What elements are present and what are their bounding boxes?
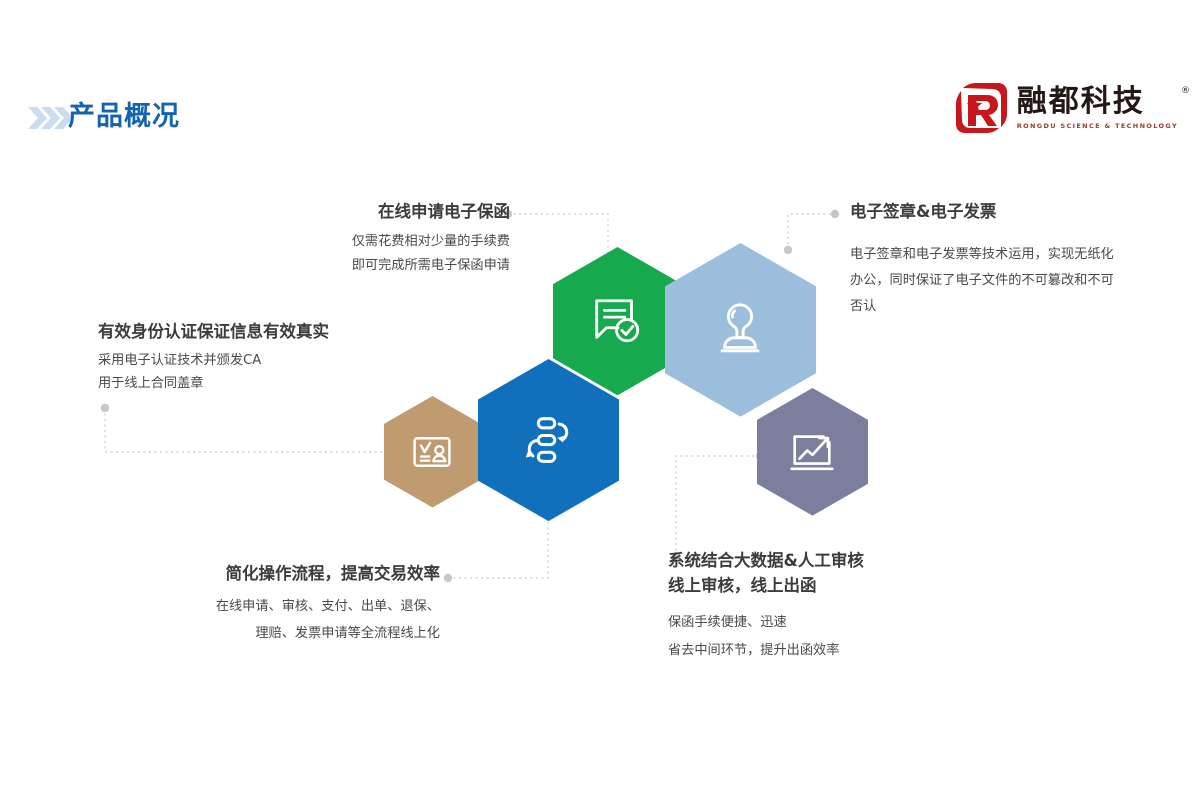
block-body-line: 省去中间环节，提升出函效率 [668, 637, 968, 665]
id-card-person-icon [410, 430, 454, 474]
logo-chinese-name: 融都科技 [1017, 85, 1178, 119]
registered-trademark-icon: ® [1181, 87, 1190, 96]
block-title: 简化操作流程，提高交易效率 [100, 562, 440, 585]
text-block-bigdata-audit: 系统结合大数据&人工审核 线上审核，线上出函 保函手续便捷、迅速 省去中间环节，… [668, 548, 968, 665]
rubber-stamp-icon [709, 299, 771, 361]
block-body: 在线申请、审核、支付、出单、退保、 理赔、发票申请等全流程线上化 [100, 593, 440, 647]
block-title: 电子签章&电子发票 [850, 200, 1120, 223]
block-title: 有效身份认证保证信息有效真实 [98, 320, 428, 343]
chart-growth-screen-icon [787, 427, 837, 477]
hexagon-identity[interactable] [384, 396, 481, 508]
rongdu-r-logo-icon [954, 81, 1008, 135]
hexagon-big-data-audit[interactable] [757, 388, 868, 516]
text-block-identity-authentication: 有效身份认证保证信息有效真实 采用电子认证技术并颁发CA 用于线上合同盖章 [98, 320, 428, 395]
text-block-online-application: 在线申请电子保函 仅需花费相对少量的手续费 即可完成所需电子保函申请 [170, 200, 510, 278]
connector-flow-endpoint-dot [444, 574, 452, 582]
block-body: 电子签章和电子发票等技术运用，实现无纸化办公，同时保证了电子文件的不可篡改和不可… [850, 242, 1120, 320]
block-body-line: 即可完成所需电子保函申请 [170, 254, 510, 278]
block-body: 保函手续便捷、迅速 省去中间环节，提升出函效率 [668, 609, 968, 665]
connector-seal-endpoint-dot [831, 210, 839, 218]
block-body: 仅需花费相对少量的手续费 即可完成所需电子保函申请 [170, 230, 510, 278]
block-body-line: 在线申请、审核、支付、出单、退保、 [100, 593, 440, 620]
block-body-line: 保函手续便捷、迅速 [668, 609, 968, 637]
block-body-line: 理赔、发票申请等全流程线上化 [100, 620, 440, 647]
block-title: 在线申请电子保函 [170, 200, 510, 223]
slide-canvas: 产品概况 融都科技 RONGDU SCIENCE & TECHNOLOGY ® [0, 0, 1200, 800]
brand-logo: 融都科技 RONGDU SCIENCE & TECHNOLOGY ® [954, 78, 1178, 138]
block-body: 采用电子认证技术并颁发CA 用于线上合同盖章 [98, 349, 428, 395]
block-body-line: 仅需花费相对少量的手续费 [170, 230, 510, 254]
block-body-line: 用于线上合同盖章 [98, 372, 428, 395]
connector-identity [105, 408, 392, 452]
text-block-simplified-process: 简化操作流程，提高交易效率 在线申请、审核、支付、出单、退保、 理赔、发票申请等… [100, 562, 440, 647]
document-check-icon [589, 293, 645, 349]
block-body-line: 采用电子认证技术并颁发CA [98, 349, 428, 372]
process-cycle-arrows-icon [517, 409, 579, 471]
connector-audit [676, 456, 760, 556]
logo-english-name: RONGDU SCIENCE & TECHNOLOGY [1017, 121, 1178, 131]
page-title: 产品概况 [68, 100, 180, 134]
block-title: 系统结合大数据&人工审核 线上审核，线上出函 [668, 548, 968, 598]
block-body-line: 电子签章和电子发票等技术运用，实现无纸化办公，同时保证了电子文件的不可篡改和不可… [850, 242, 1120, 320]
text-block-electronic-seal: 电子签章&电子发票 电子签章和电子发票等技术运用，实现无纸化办公，同时保证了电子… [850, 200, 1120, 320]
hexagon-online-application[interactable] [553, 247, 682, 395]
connector-identity-endpoint-dot [101, 404, 109, 412]
connector-flow [448, 512, 548, 578]
